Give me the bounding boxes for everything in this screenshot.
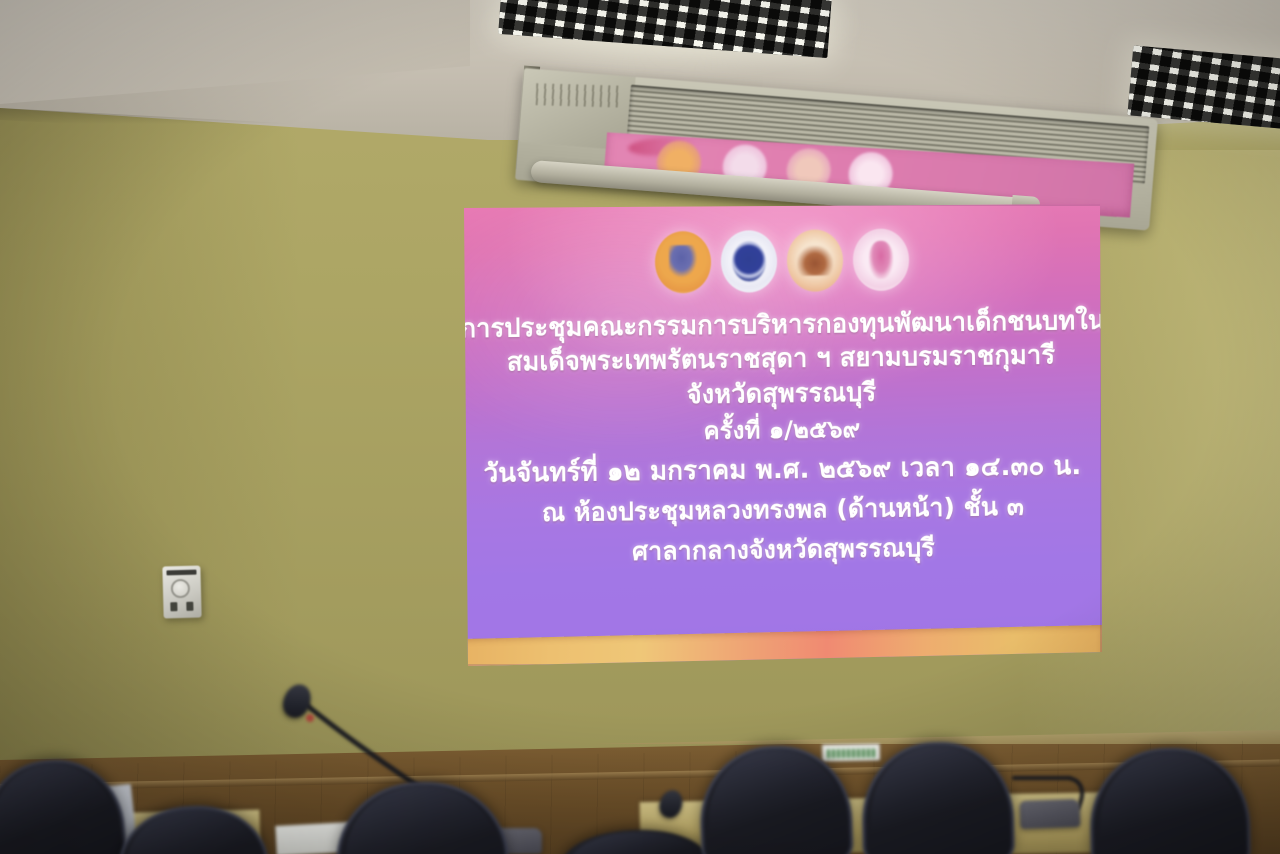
conference-room-photo: การประชุมคณะกรรมการบริหารกองทุนพัฒนาเด็ก… [0, 0, 1280, 854]
royal-cypher-seal-pink-icon [853, 228, 910, 291]
thermostat-dial[interactable] [171, 579, 190, 598]
ministry-interior-seal-blue-icon [721, 230, 778, 293]
slide-emblem-row [462, 226, 1102, 296]
slide-line-datetime: วันจันทร์ที่ ๑๒ มกราคม พ.ศ. ๒๕๖๙ เวลา ๑๔… [462, 448, 1102, 491]
air-conditioner-vent-lines [536, 83, 621, 107]
community-development-seal-icon [787, 229, 844, 292]
thermostat-switch-left[interactable] [170, 602, 177, 611]
slide-text-block: การประชุมคณะกรรมการบริหารกองทุนพัฒนาเด็ก… [462, 304, 1102, 571]
provincial-seal-orange-icon [655, 231, 712, 294]
wall-thermostat[interactable] [162, 566, 201, 619]
slide-line-session: ครั้งที่ ๑/๒๕๖๙ [462, 410, 1102, 451]
thermostat-slot [166, 570, 196, 576]
wall-shadow-left [0, 96, 300, 796]
microphone-indicator-ring [306, 714, 314, 722]
thermostat-switch-right[interactable] [186, 602, 193, 611]
slide-line-province: จังหวัดสุพรรณบุรี [462, 373, 1102, 416]
slide-line-venue: ณ ห้องประชุมหลวงทรงพล (ด้านหน้า) ชั้น ๓ [463, 489, 1102, 531]
gooseneck-microphone-right-base [1020, 799, 1081, 829]
wall-label-sign-text [827, 749, 875, 759]
projection-screen: การประชุมคณะกรรมการบริหารกองทุนพัฒนาเด็ก… [462, 204, 1102, 666]
wall-label-sign [822, 743, 880, 761]
